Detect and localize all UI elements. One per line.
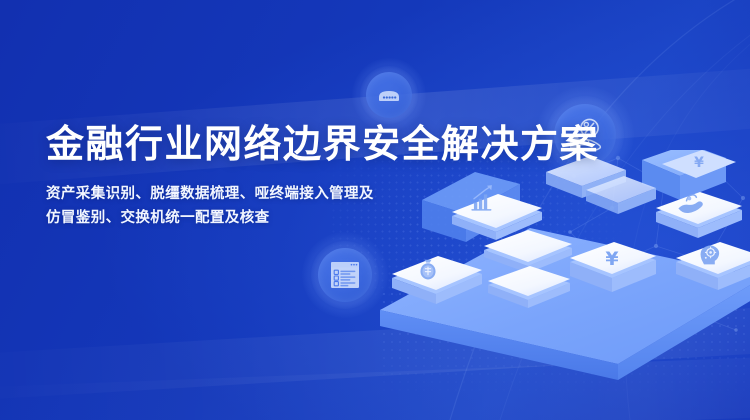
isometric-platform: ¥ ¥ bbox=[370, 150, 750, 380]
network-switch-icon bbox=[374, 80, 404, 110]
document-list-icon bbox=[325, 255, 365, 295]
page-subtitle: 资产采集识别、脱缰数据梳理、哑终端接入管理及 仿冒鉴别、交换机统一配置及核查 bbox=[46, 182, 406, 230]
marketing-banner: ¥ ¥ bbox=[0, 0, 750, 420]
svg-text:¥: ¥ bbox=[605, 248, 618, 270]
subtitle-line-2: 仿冒鉴别、交换机统一配置及核查 bbox=[46, 206, 406, 230]
tile-hand-give bbox=[656, 192, 742, 238]
badge-network-switch bbox=[352, 58, 426, 132]
page-title: 金融行业网络边界安全解决方案 bbox=[46, 122, 599, 166]
subtitle-line-1: 资产采集识别、脱缰数据梳理、哑终端接入管理及 bbox=[46, 182, 406, 206]
svg-text:¥: ¥ bbox=[694, 155, 704, 171]
